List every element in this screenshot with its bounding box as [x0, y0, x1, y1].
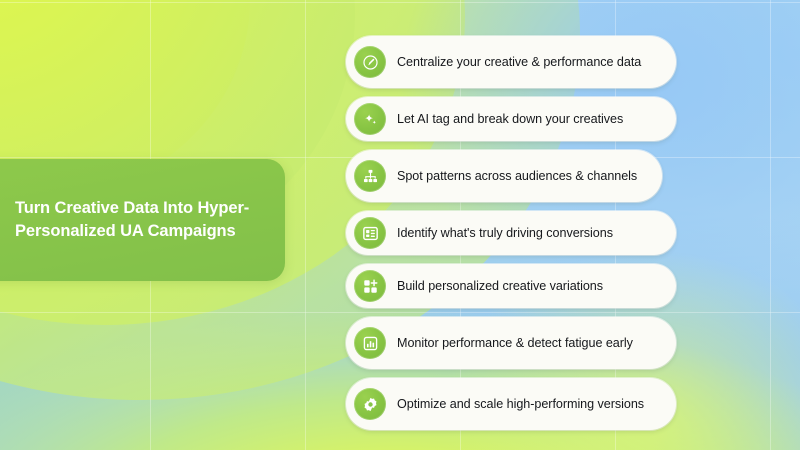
list-item-build-variations[interactable]: Build personalized creative variations: [346, 264, 676, 308]
steps-list: Centralize your creative & performance d…: [346, 36, 676, 439]
list-item-centralize[interactable]: Centralize your creative & performance d…: [346, 36, 676, 88]
grid-blocks-icon: [354, 270, 386, 302]
paintbrush-icon: [354, 46, 386, 78]
list-item-spot-patterns[interactable]: Spot patterns across audiences & channel…: [346, 150, 662, 202]
list-item-optimize-scale[interactable]: Optimize and scale high-performing versi…: [346, 378, 676, 430]
list-item-label: Let AI tag and break down your creatives: [397, 111, 623, 128]
slide-canvas: Turn Creative Data Into Hyper-Personaliz…: [0, 0, 800, 450]
list-item-label: Identify what's truly driving conversion…: [397, 225, 613, 242]
list-item-identify-conversions[interactable]: Identify what's truly driving conversion…: [346, 211, 676, 255]
list-item-ai-tagging[interactable]: Let AI tag and break down your creatives: [346, 97, 676, 141]
list-item-label: Build personalized creative variations: [397, 278, 603, 295]
gear-icon: [354, 388, 386, 420]
list-item-label: Spot patterns across audiences & channel…: [397, 168, 637, 185]
list-item-monitor-performance[interactable]: Monitor performance & detect fatigue ear…: [346, 317, 676, 369]
title-block: Turn Creative Data Into Hyper-Personaliz…: [0, 159, 285, 281]
bar-chart-icon: [354, 327, 386, 359]
list-item-label: Optimize and scale high-performing versi…: [397, 396, 644, 413]
dashboard-layout-icon: [354, 217, 386, 249]
hierarchy-icon: [354, 160, 386, 192]
list-item-label: Monitor performance & detect fatigue ear…: [397, 335, 633, 352]
sparkle-icon: [354, 103, 386, 135]
list-item-label: Centralize your creative & performance d…: [397, 54, 641, 71]
page-title: Turn Creative Data Into Hyper-Personaliz…: [0, 197, 285, 243]
